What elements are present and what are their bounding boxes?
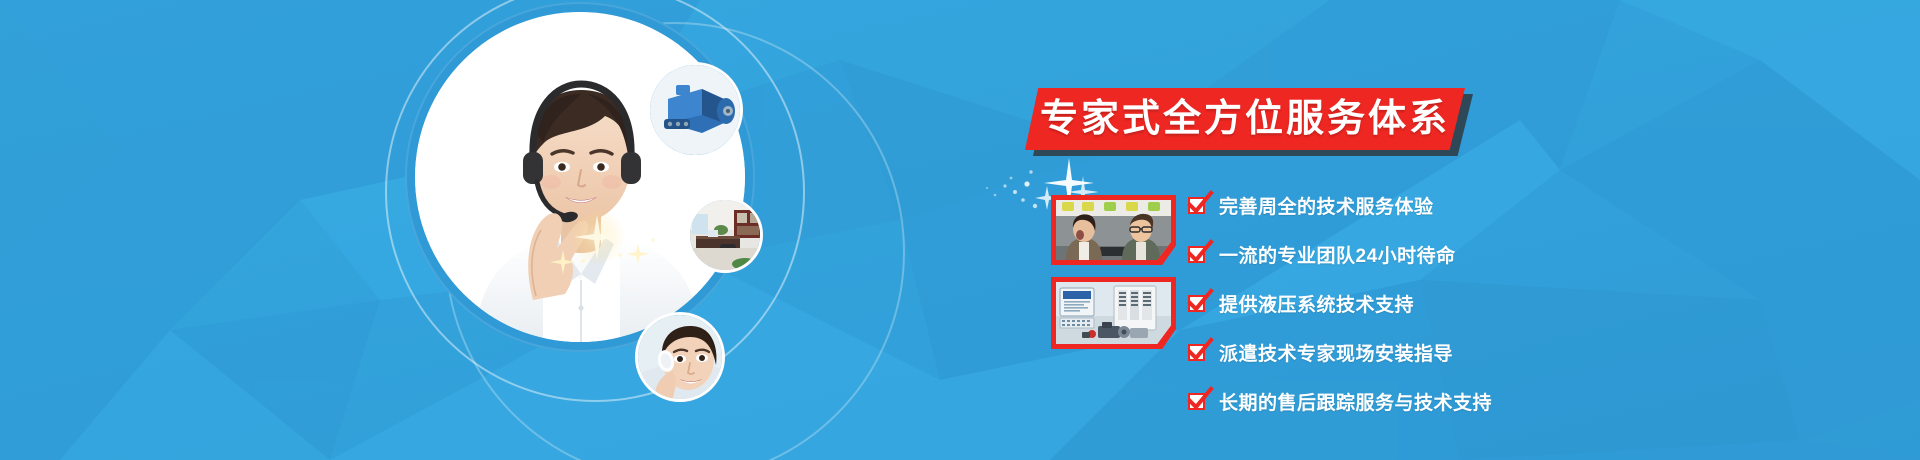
- checkbox-checked-icon: [1188, 197, 1205, 214]
- list-item-label: 派遣技术专家现场安装指导: [1219, 339, 1453, 366]
- low-poly-background-pattern: [0, 0, 1920, 460]
- hero-circle-group: [395, 0, 955, 460]
- consultation-photo: [1051, 195, 1176, 265]
- list-item: 完善周全的技术服务体验: [1188, 186, 1608, 224]
- ribbon-body: 专家式全方位服务体系: [1025, 88, 1465, 150]
- checkbox-checked-icon: [1188, 393, 1205, 410]
- list-item-label: 长期的售后跟踪服务与技术支持: [1219, 388, 1492, 415]
- page-title: 专家式全方位服务体系: [1040, 100, 1450, 138]
- office-interior-photo: [687, 197, 763, 273]
- list-item-label: 提供液压系统技术支持: [1219, 290, 1414, 317]
- list-item: 派遣技术专家现场安装指导: [1188, 333, 1608, 371]
- checkbox-checked-icon: [1188, 295, 1205, 312]
- service-feature-list: 完善周全的技术服务体验 一流的专业团队24小时待命 提供液压系统技术支持: [1188, 186, 1608, 431]
- list-item-label: 完善周全的技术服务体验: [1219, 192, 1434, 219]
- list-item-label: 一流的专业团队24小时待命: [1219, 241, 1456, 268]
- list-item: 提供液压系统技术支持: [1188, 284, 1608, 322]
- service-system-banner: 专家式全方位服务体系: [0, 0, 1920, 460]
- checkbox-checked-icon: [1188, 246, 1205, 263]
- equipment-photo: [1051, 277, 1176, 349]
- earpiece-woman-photo: [635, 312, 725, 402]
- list-item: 长期的售后跟踪服务与技术支持: [1188, 382, 1608, 420]
- hydraulic-pump-photo: [647, 62, 743, 158]
- checkbox-checked-icon: [1188, 344, 1205, 361]
- list-item: 一流的专业团队24小时待命: [1188, 235, 1608, 273]
- title-ribbon: 专家式全方位服务体系: [1025, 88, 1465, 150]
